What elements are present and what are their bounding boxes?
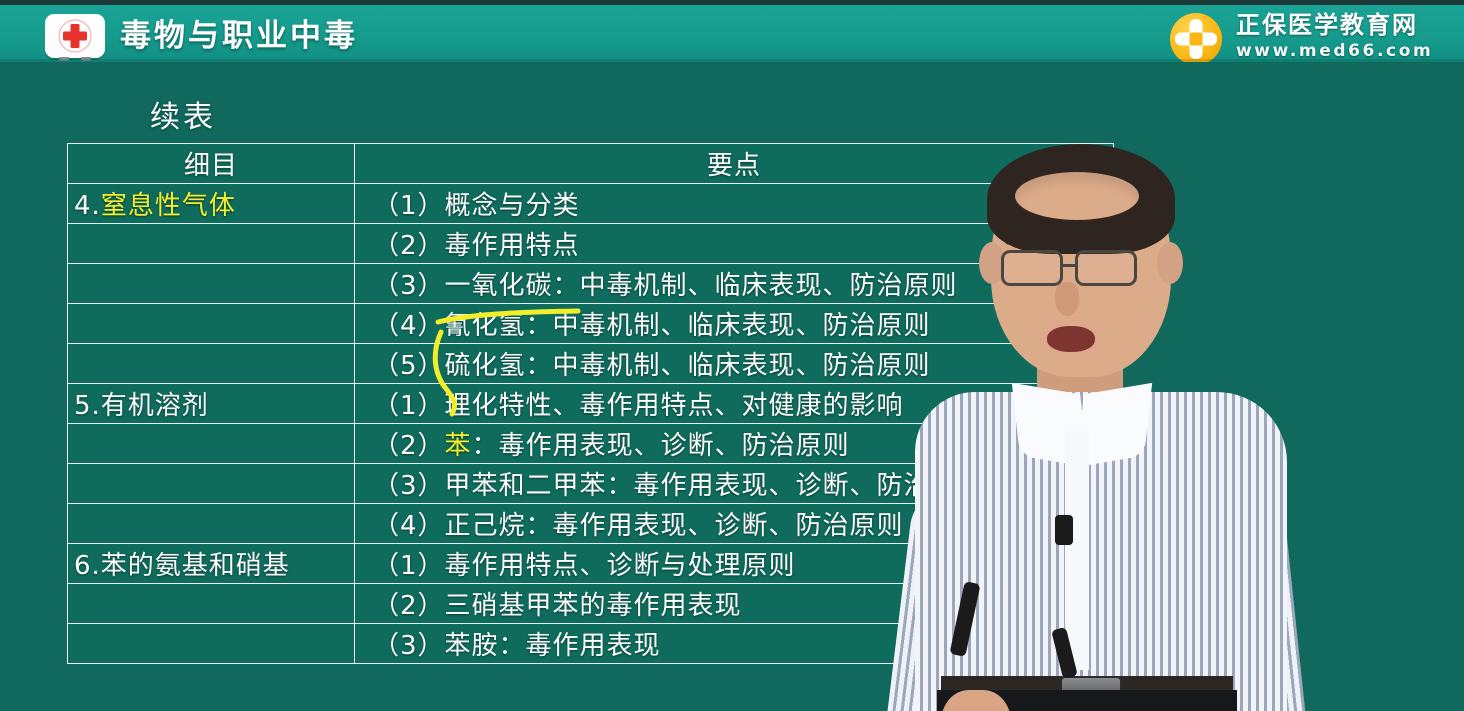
point-prefix: （2） bbox=[373, 431, 445, 461]
cell-category bbox=[68, 264, 355, 304]
instructor-figure bbox=[905, 130, 1305, 711]
brand-url: www.med66.com bbox=[1236, 40, 1433, 62]
instructor-mouth bbox=[1047, 326, 1095, 352]
glasses-lens-right bbox=[1075, 250, 1137, 286]
lapel-microphone-icon bbox=[1055, 515, 1073, 545]
cell-category: 4.窒息性气体 bbox=[68, 184, 355, 224]
page-title: 毒物与职业中毒 bbox=[120, 13, 358, 59]
cell-category: 6.苯的氨基和硝基 bbox=[68, 544, 355, 584]
glasses-lens-left bbox=[1001, 250, 1063, 286]
instructor-shirt-placket bbox=[1065, 430, 1089, 670]
cell-category bbox=[68, 424, 355, 464]
cell-category bbox=[68, 464, 355, 504]
cell-category: 5.有机溶剂 bbox=[68, 384, 355, 424]
instructor-ear-right bbox=[1157, 242, 1183, 284]
kit-cross-horizontal bbox=[63, 32, 87, 41]
medical-kit-icon bbox=[45, 14, 105, 58]
cell-category bbox=[68, 584, 355, 624]
brand-name: 正保医学教育网 bbox=[1236, 11, 1418, 39]
category-prefix: 4. bbox=[74, 191, 101, 221]
brand-logo: 正保医学教育网 www.med66.com bbox=[1156, 9, 1446, 67]
glasses-bridge bbox=[1063, 264, 1077, 267]
cell-category bbox=[68, 304, 355, 344]
cell-category bbox=[68, 504, 355, 544]
video-frame: 毒物与职业中毒 正保医学教育网 www.med66.com 续表 细目 要点 bbox=[0, 0, 1464, 711]
slide-header-bar: 毒物与职业中毒 正保医学教育网 www.med66.com bbox=[0, 5, 1464, 62]
column-header-detail: 细目 bbox=[68, 144, 355, 184]
kit-foot-left bbox=[59, 57, 69, 61]
cell-category bbox=[68, 624, 355, 664]
badge-center-notch bbox=[1190, 33, 1203, 46]
instructor-nose bbox=[1055, 282, 1079, 316]
kit-foot-right bbox=[81, 57, 91, 61]
cell-category bbox=[68, 344, 355, 384]
slide-title: 续表 bbox=[150, 92, 216, 136]
point-highlight: 苯 bbox=[445, 431, 472, 461]
cell-category bbox=[68, 224, 355, 264]
point-suffix: ：毒作用表现、诊断、防治原则 bbox=[472, 431, 850, 461]
cross-badge-icon bbox=[1170, 13, 1222, 65]
category-highlight: 窒息性气体 bbox=[101, 191, 236, 221]
